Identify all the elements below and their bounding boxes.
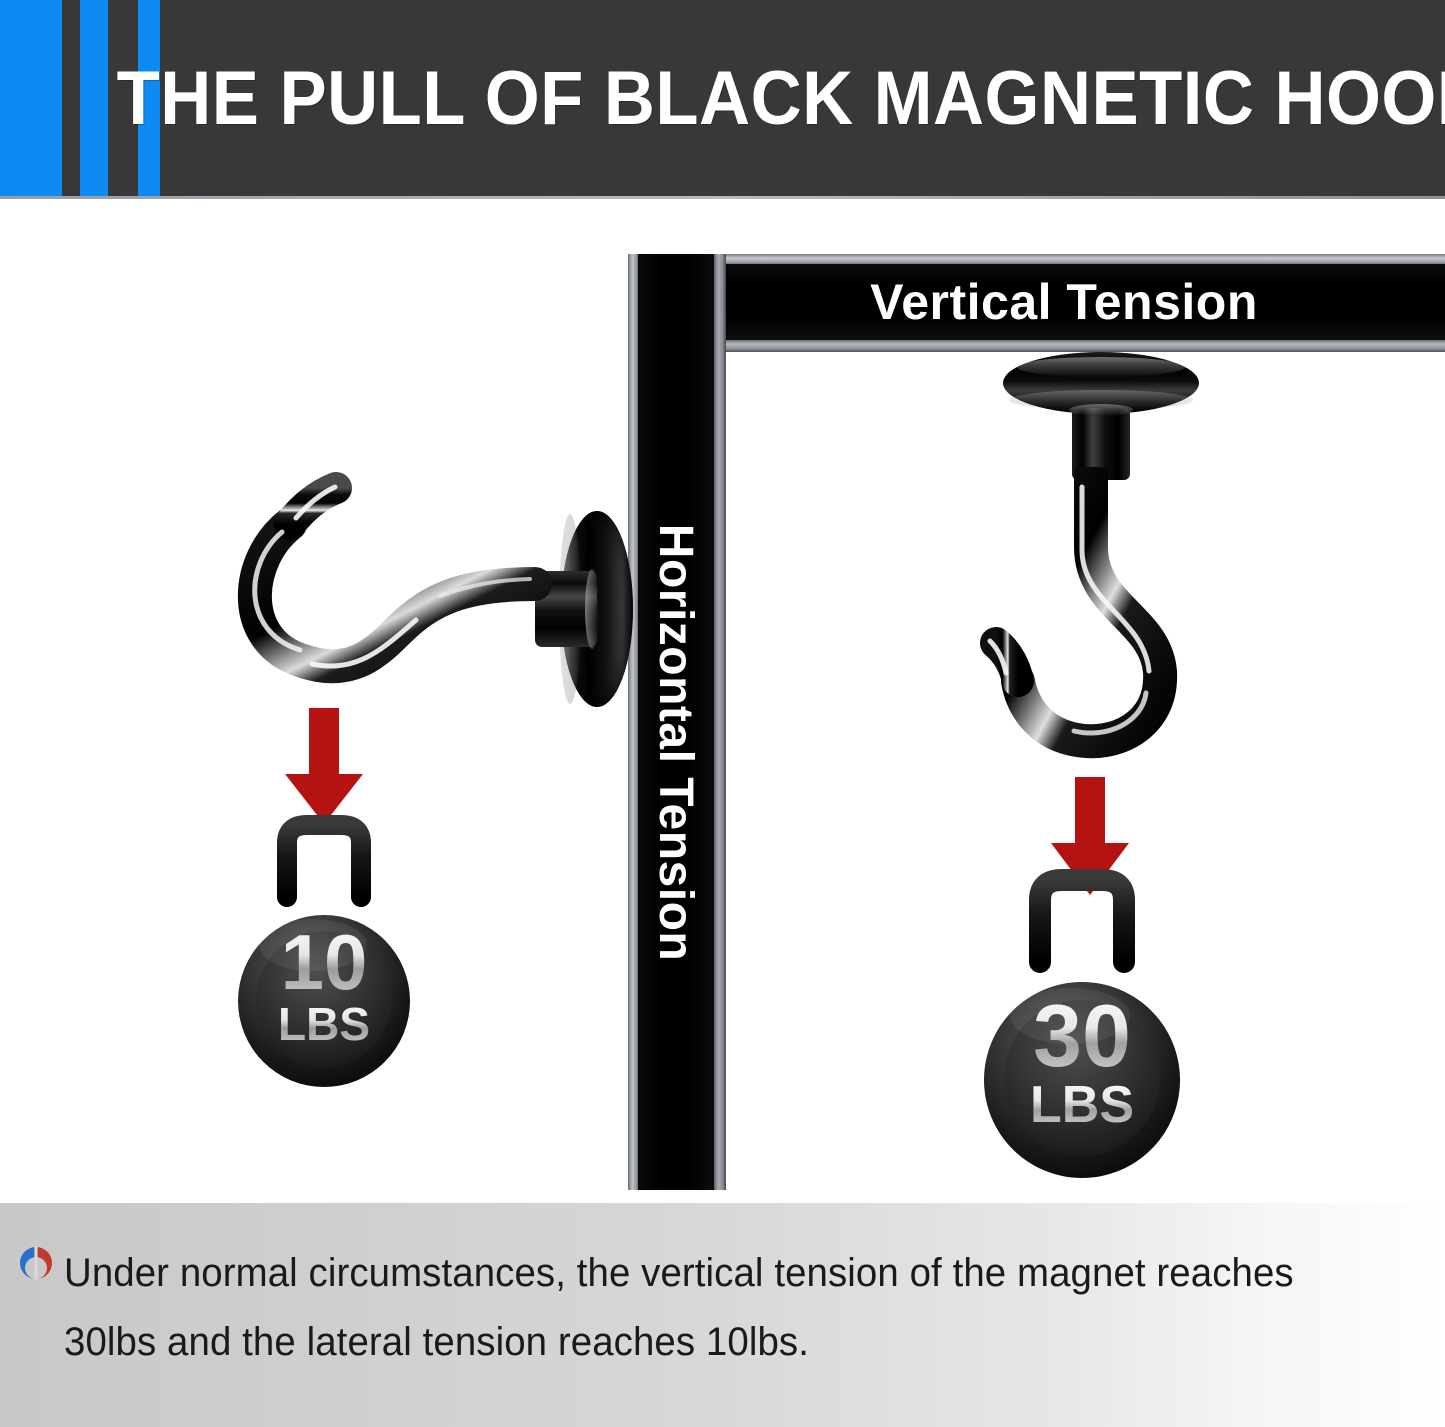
weight-unit-30: LBS — [1030, 1076, 1134, 1134]
vertical-beam: Horizontal Tension — [628, 254, 726, 1190]
beam-chrome-edge-bottom — [723, 340, 1445, 352]
magnet-puck-gloss — [1017, 357, 1185, 377]
accent-stripe-2 — [80, 0, 108, 198]
vertical-tension-label: Vertical Tension — [723, 264, 1445, 340]
horizontal-beam: Vertical Tension — [723, 254, 1445, 352]
header-banner: THE PULL OF BLACK MAGNETIC HOOK — [0, 0, 1445, 198]
caption-text: Under normal circumstances, the vertical… — [64, 1239, 1341, 1377]
horizontal-hook — [190, 464, 560, 714]
product-infographic: THE PULL OF BLACK MAGNETIC HOOK Vertical… — [0, 0, 1445, 1427]
weight-value-10: 10 — [281, 918, 368, 1006]
weight-30lbs: 30 LBS — [978, 864, 1186, 1194]
ceiling-puck-magnet — [1003, 352, 1199, 414]
magnet-boss-ring — [1069, 404, 1133, 416]
magnet-boss-ring — [585, 569, 599, 649]
horizontal-tension-label: Horizontal Tension — [638, 254, 714, 1190]
vertical-hook — [960, 467, 1230, 787]
left-down-arrow — [281, 708, 367, 826]
weight-10lbs: 10 LBS — [233, 811, 415, 1101]
weight-unit-10: LBS — [278, 998, 370, 1050]
page-title: THE PULL OF BLACK MAGNETIC HOOK — [205, 0, 1400, 198]
illustration-stage: Vertical Tension Horizontal Tension — [0, 199, 1445, 1203]
horizontal-tension-label-text: Horizontal Tension — [649, 523, 704, 960]
accent-stripe-1 — [0, 0, 62, 198]
magnet-poles-icon — [18, 1245, 54, 1281]
weight-value-30: 30 — [1033, 986, 1131, 1085]
beam-chrome-edge-right — [714, 254, 726, 1190]
caption-band: Under normal circumstances, the vertical… — [0, 1203, 1445, 1427]
